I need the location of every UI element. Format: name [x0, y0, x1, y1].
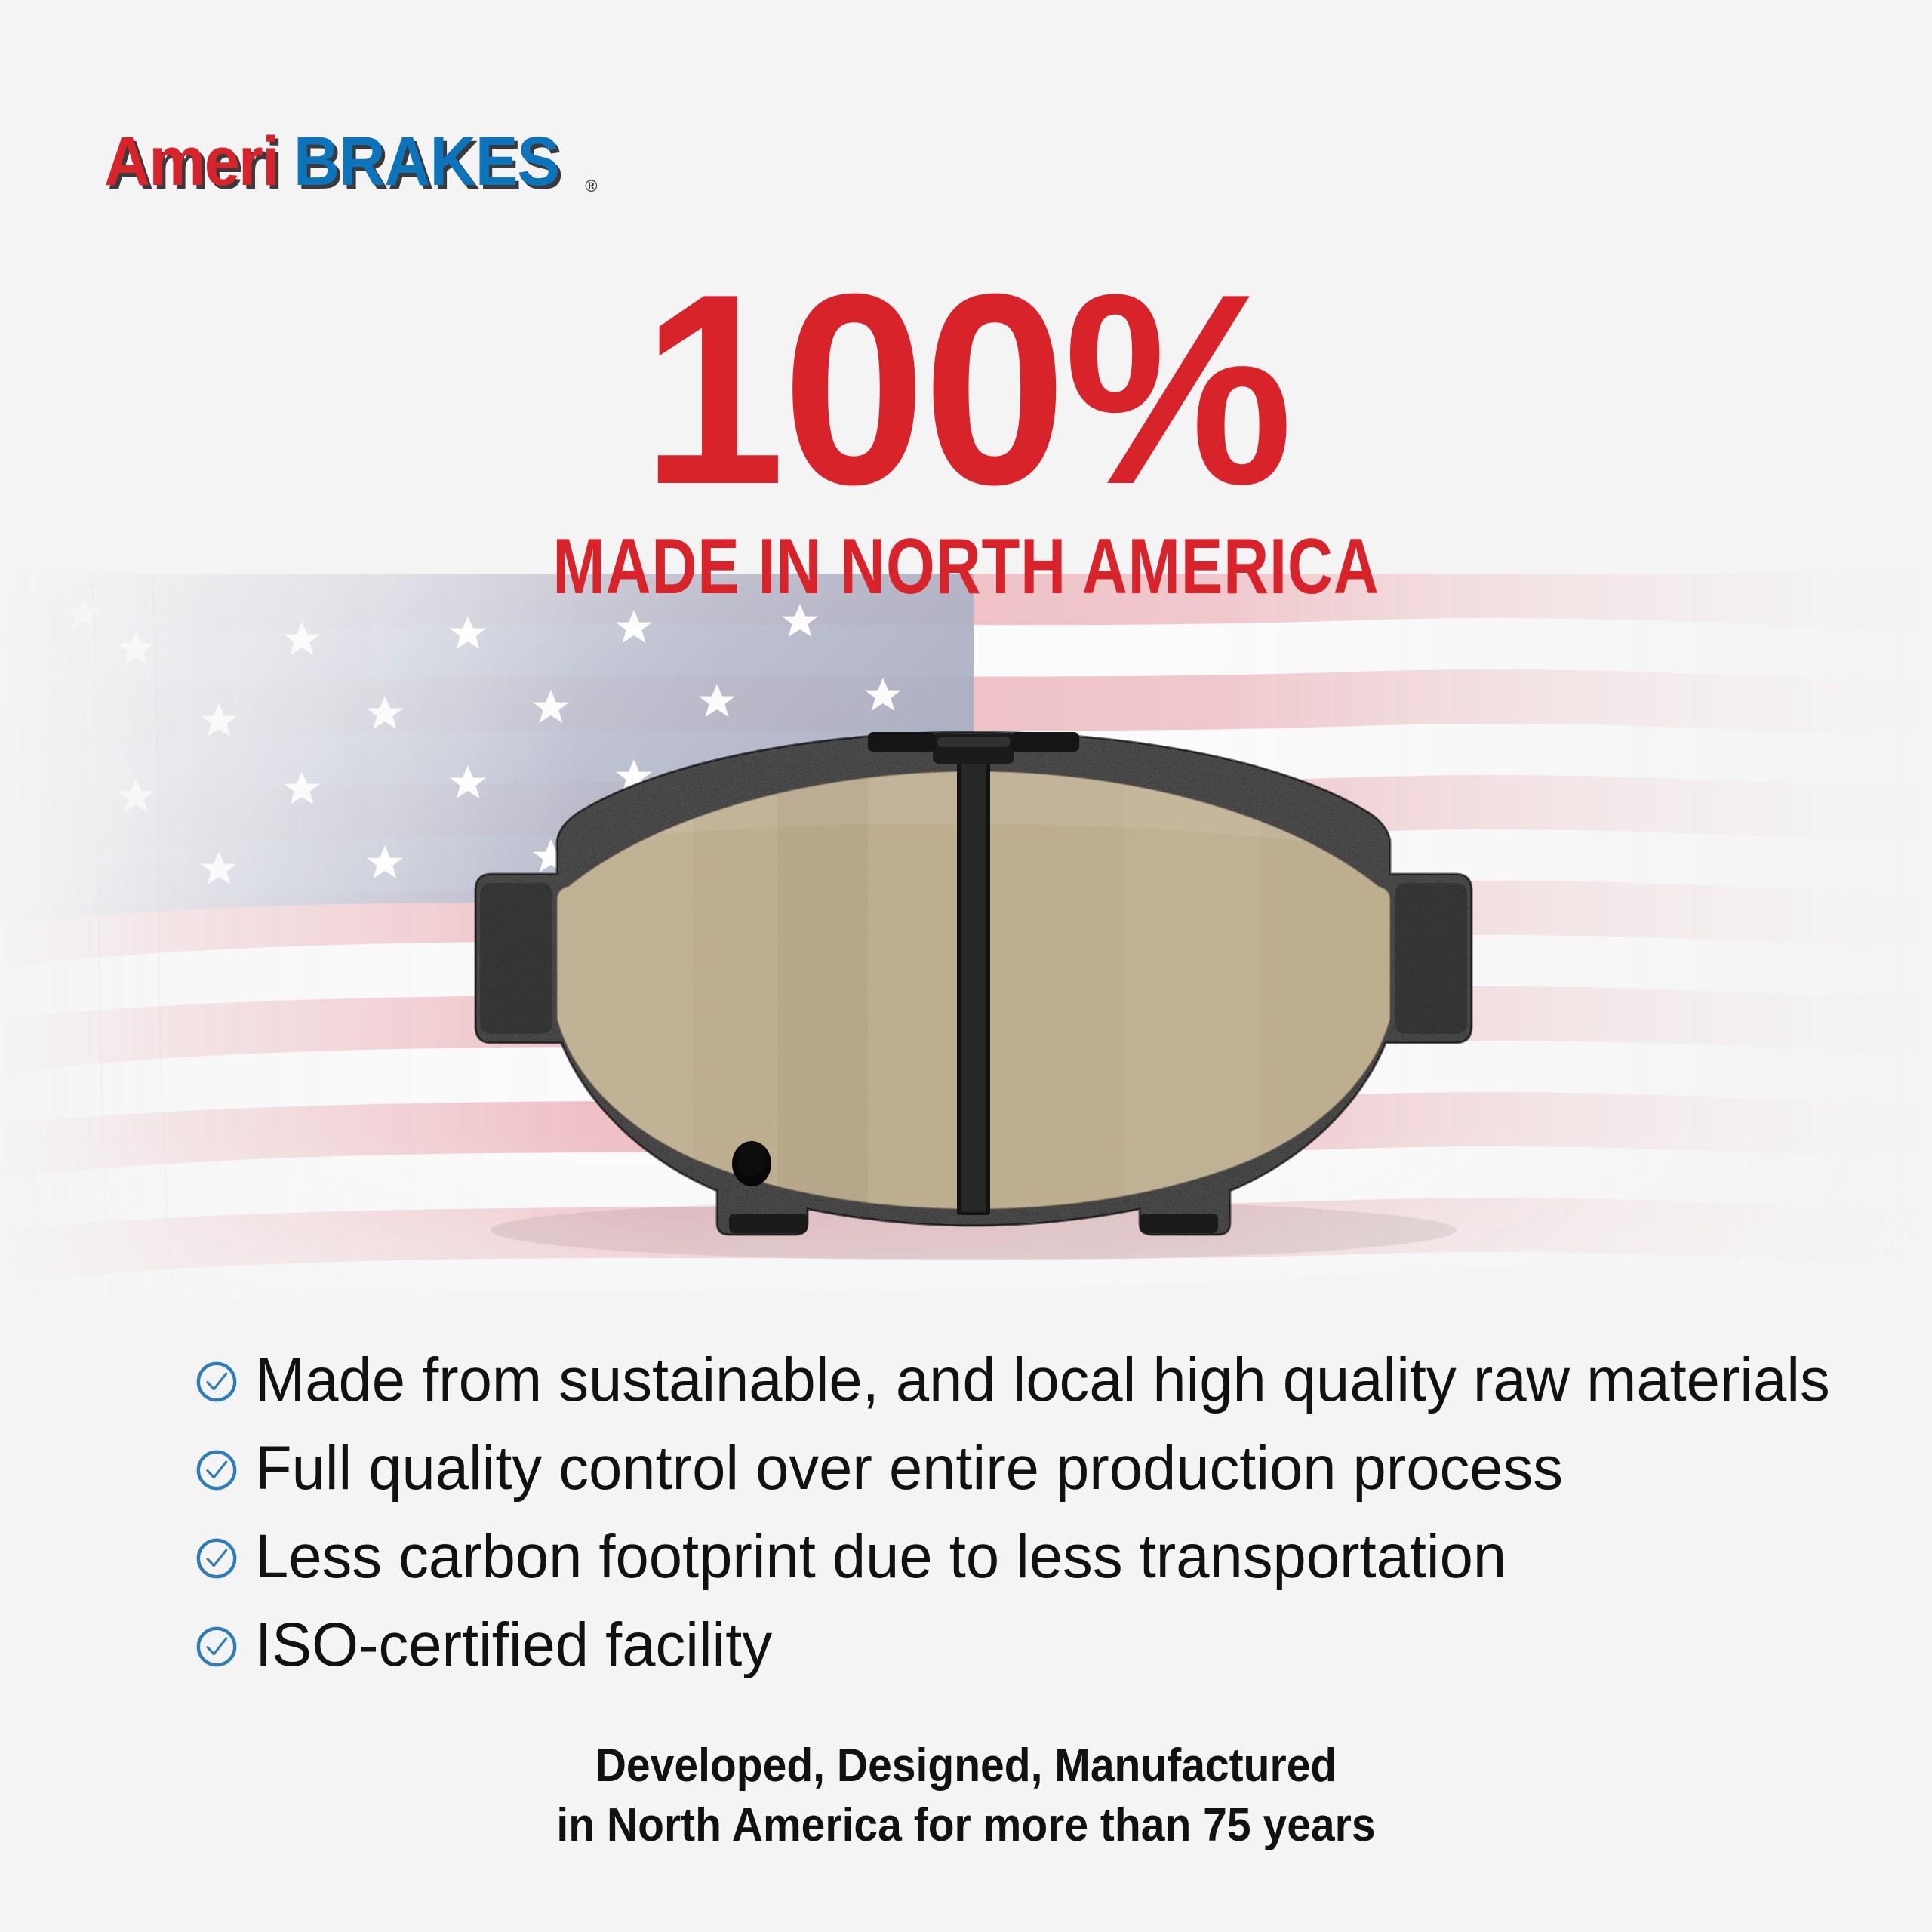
list-item-label: ISO-certified facility [255, 1614, 772, 1676]
list-item: Full quality control over entire product… [195, 1428, 1780, 1509]
feature-list: Made from sustainable, and local high qu… [195, 1340, 1780, 1693]
headline-block: 100% MADE IN NORTH AMERICA [0, 257, 1932, 606]
footer-line-1: Developed, Designed, Manufactured [77, 1736, 1854, 1795]
mounting-hole [732, 1141, 771, 1186]
logo-text-ameri: Ameri [104, 127, 278, 196]
list-item: Made from sustainable, and local high qu… [195, 1340, 1780, 1421]
logo-text-brakes: BRAKES [294, 127, 559, 196]
promo-banner: AmeriBRAKES® 100% MADE IN NORTH AMERICA [0, 0, 1932, 1932]
list-item: Less carbon footprint due to less transp… [195, 1516, 1780, 1598]
check-circle-icon [195, 1360, 238, 1404]
registered-trademark-icon: ® [585, 178, 597, 195]
list-item-label: Full quality control over entire product… [255, 1438, 1563, 1500]
list-item-label: Less carbon footprint due to less transp… [255, 1526, 1506, 1588]
headline-subtitle: MADE IN NORTH AMERICA [193, 528, 1739, 606]
brake-pad-product-image [249, 702, 1698, 1298]
list-item-label: Made from sustainable, and local high qu… [255, 1349, 1830, 1411]
check-circle-icon [195, 1448, 238, 1492]
brand-logo[interactable]: AmeriBRAKES® [104, 127, 597, 196]
list-item: ISO-certified facility [195, 1604, 1780, 1686]
footer-tagline: Developed, Designed, Manufactured in Nor… [0, 1736, 1932, 1856]
page-title: 100% [48, 257, 1884, 523]
check-circle-icon [195, 1537, 238, 1580]
footer-line-2: in North America for more than 75 years [77, 1795, 1854, 1855]
check-circle-icon [195, 1625, 238, 1669]
